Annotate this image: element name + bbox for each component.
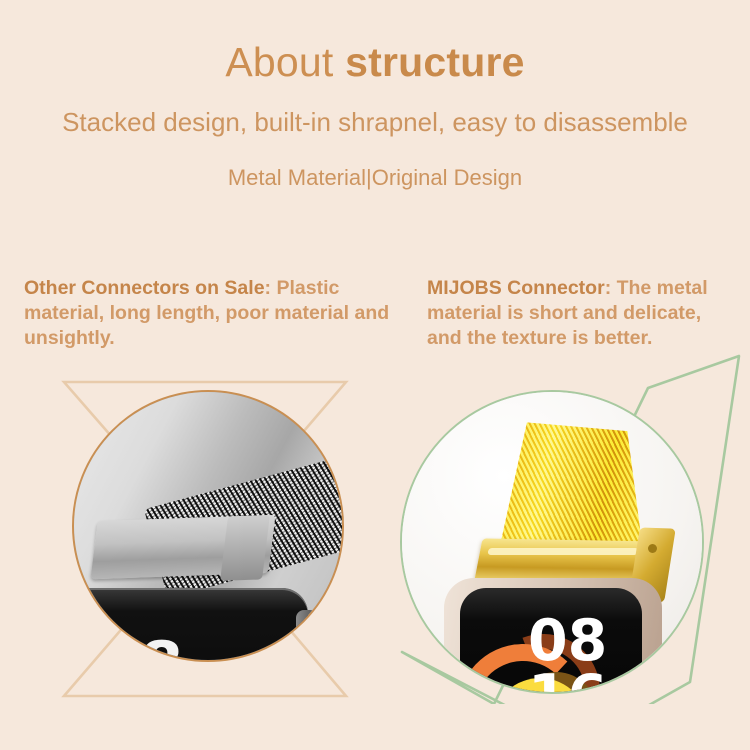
left-column-caption: Other Connectors on Sale: Plastic materi…	[24, 276, 394, 351]
gold-clasp-highlight	[487, 548, 638, 555]
header: About structure Stacked design, built-in…	[0, 0, 750, 192]
left-caption-lead: Other Connectors on Sale	[24, 277, 265, 299]
grey-connector-clasp-edge	[220, 515, 270, 581]
right-caption-lead: MIJOBS Connector	[427, 277, 605, 299]
product-feature-panel: About structure Stacked design, built-in…	[0, 0, 750, 750]
gold-watch-minutes: 16	[528, 669, 607, 694]
gold-watch-hours: 08	[528, 614, 607, 669]
grey-watch-time: 08	[96, 628, 184, 662]
photo-other-connector-scene: 08	[74, 392, 342, 660]
grey-watch-side-button	[296, 610, 318, 662]
right-column-caption: MIJOBS Connector: The metal material is …	[427, 276, 737, 351]
subtitle-secondary: Metal Material|Original Design	[0, 138, 750, 192]
page-title: About structure	[0, 0, 750, 86]
gold-clasp-pin	[648, 544, 657, 553]
title-bold-part: structure	[345, 39, 525, 85]
title-light-part: About	[225, 39, 345, 85]
photo-mijobs-connector-scene: 0816	[402, 392, 702, 692]
subtitle: Stacked design, built-in shrapnel, easy …	[0, 86, 750, 138]
gold-watch-time: 0816	[528, 614, 607, 694]
photo-mijobs-connector: 0816	[400, 390, 704, 694]
photo-other-connector: 08	[72, 390, 344, 662]
